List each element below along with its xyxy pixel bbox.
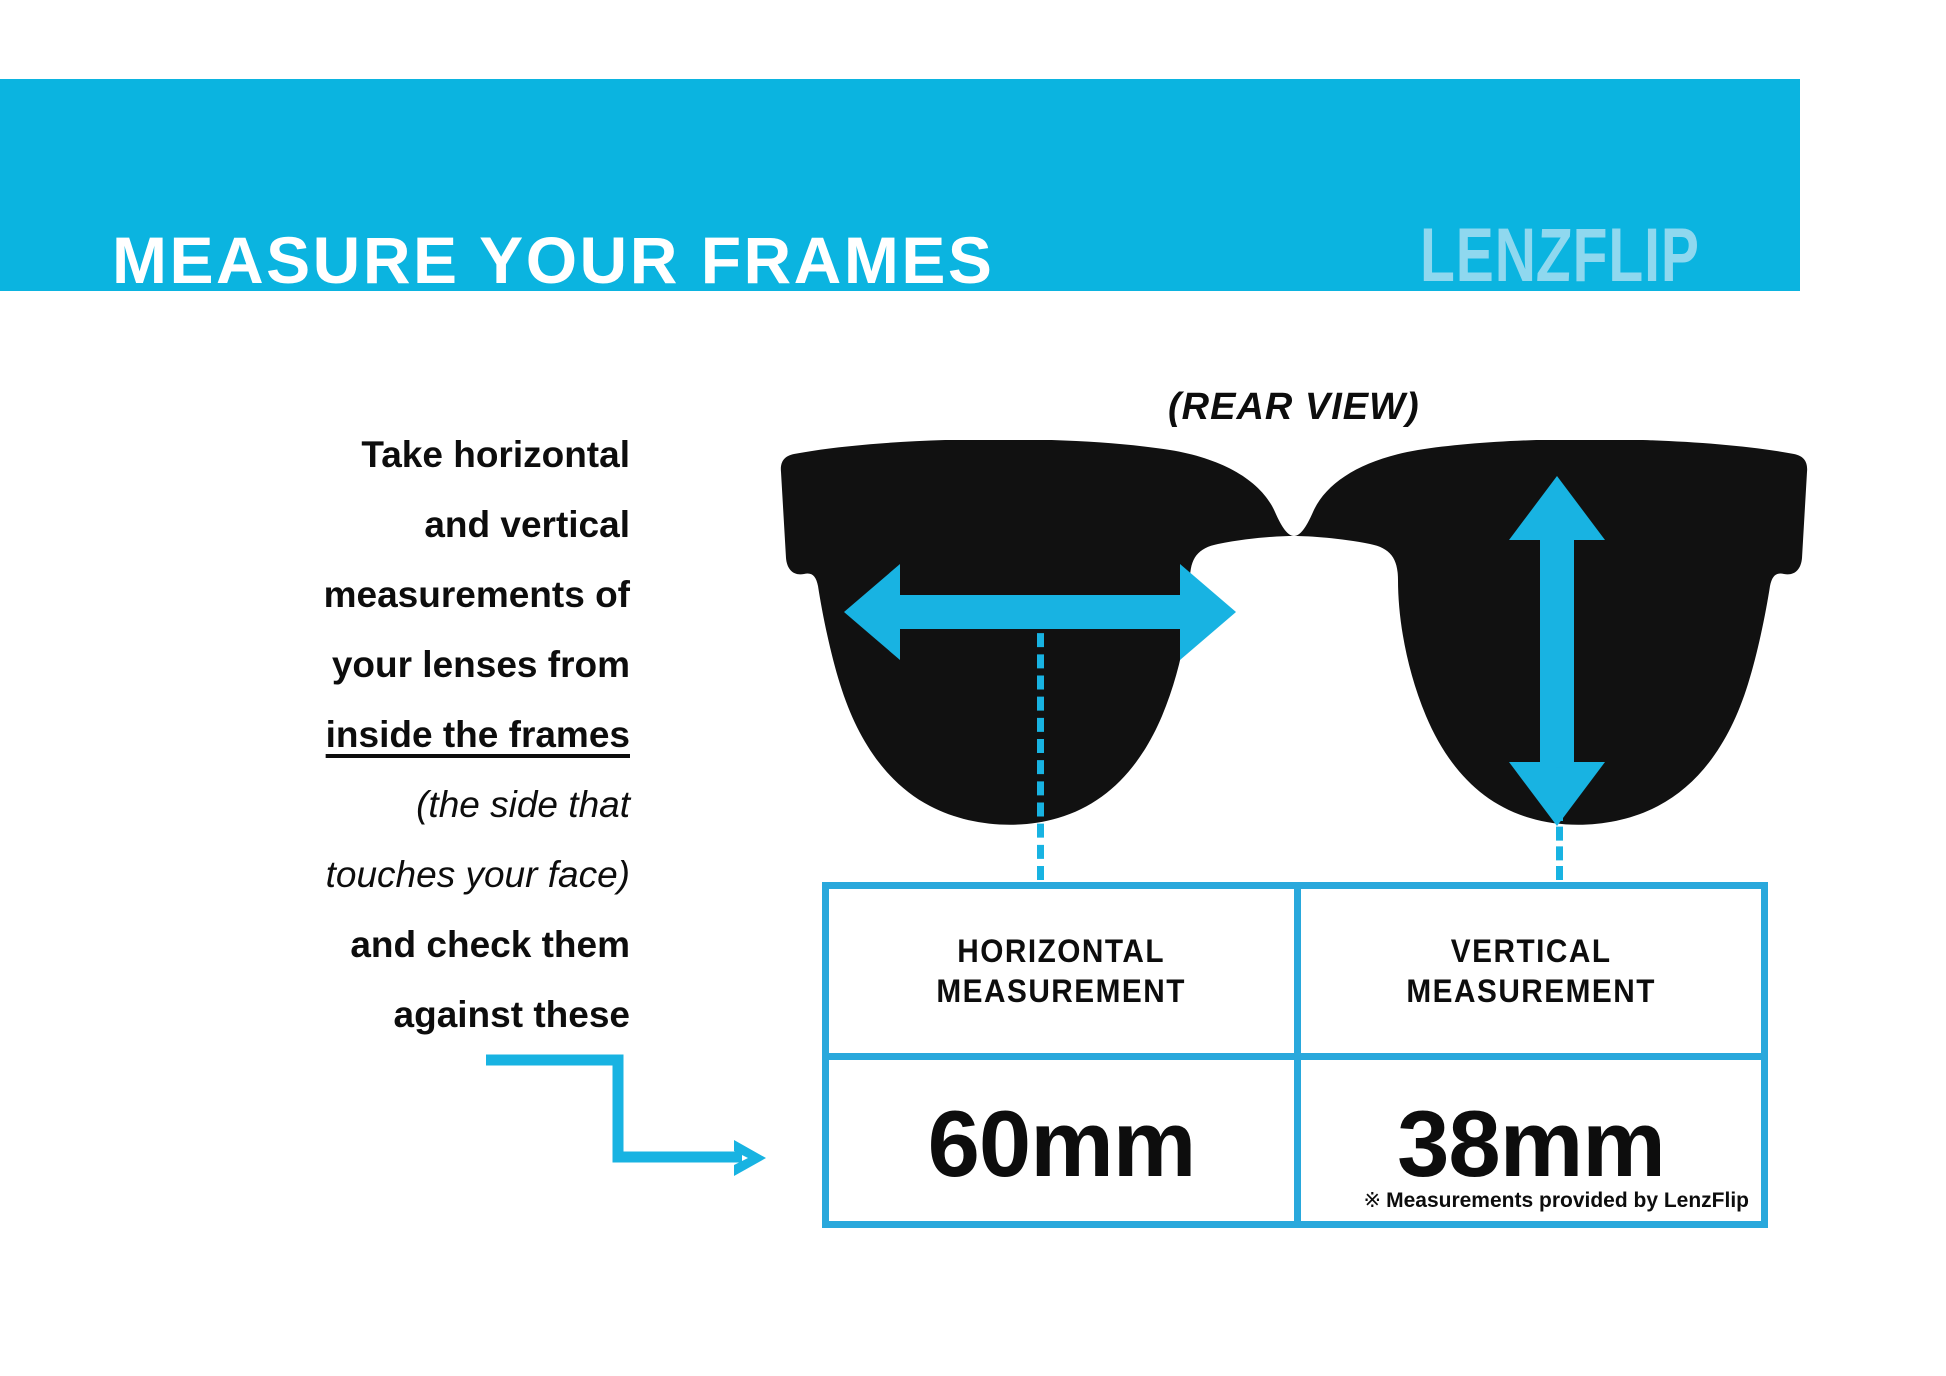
instruction-line-4: your lenses from — [160, 630, 630, 700]
brand-logo-part1: LEN — [1420, 214, 1537, 298]
infographic-root: MEASURE YOUR FRAMES LENZFLIP Take horizo… — [0, 0, 1946, 1376]
table-footnote: ※Measurements provided by LenzFlip — [1363, 1188, 1749, 1213]
rear-view-label: (REAR VIEW) — [1168, 388, 1420, 426]
measurement-table: HORIZONTAL MEASUREMENT VERTICAL MEASUREM… — [822, 882, 1768, 1228]
eyeglass-frame-shape — [781, 440, 1807, 825]
eyeglasses-rear-view-illustration — [770, 440, 1810, 900]
instruction-line-5-emphasis: inside the frames — [160, 700, 630, 770]
dashed-guide-right — [1556, 748, 1563, 880]
footnote-text: Measurements provided by LenzFlip — [1386, 1189, 1749, 1212]
dashed-guide-left — [1037, 612, 1044, 880]
reference-mark-icon: ※ — [1363, 1189, 1381, 1212]
vertical-measurement-value: 38mm — [1397, 1097, 1665, 1191]
header-vertical-line2: MEASUREMENT — [1406, 973, 1656, 1009]
instruction-line-7: touches your face) — [160, 840, 630, 910]
table-header-vertical: VERTICAL MEASUREMENT — [1301, 889, 1761, 1053]
table-header-horizontal: HORIZONTAL MEASUREMENT — [829, 889, 1294, 1053]
header-horizontal-line2: MEASUREMENT — [937, 973, 1187, 1009]
header-bar: MEASURE YOUR FRAMES LENZFLIP — [0, 79, 1800, 291]
table-value-horizontal: 60mm — [829, 1060, 1294, 1228]
instruction-line-3: measurements of — [160, 560, 630, 630]
brand-logo-z: Z — [1535, 219, 1575, 295]
horizontal-measurement-value: 60mm — [928, 1097, 1196, 1191]
instruction-line-8: and check them — [160, 910, 630, 980]
instruction-line-2: and vertical — [160, 490, 630, 560]
page-title: MEASURE YOUR FRAMES — [112, 227, 994, 293]
brand-logo: LENZFLIP — [1420, 219, 1700, 295]
header-vertical-line1: VERTICAL — [1451, 933, 1612, 969]
callout-arrow-connector — [470, 1040, 800, 1200]
instruction-line-6: (the side that — [160, 770, 630, 840]
instruction-line-1: Take horizontal — [160, 420, 630, 490]
table-horizontal-divider — [829, 1053, 1761, 1060]
header-horizontal-line1: HORIZONTAL — [958, 933, 1166, 969]
brand-logo-part2: FLIP — [1573, 214, 1700, 298]
instructions-block: Take horizontal and vertical measurement… — [160, 420, 630, 1050]
